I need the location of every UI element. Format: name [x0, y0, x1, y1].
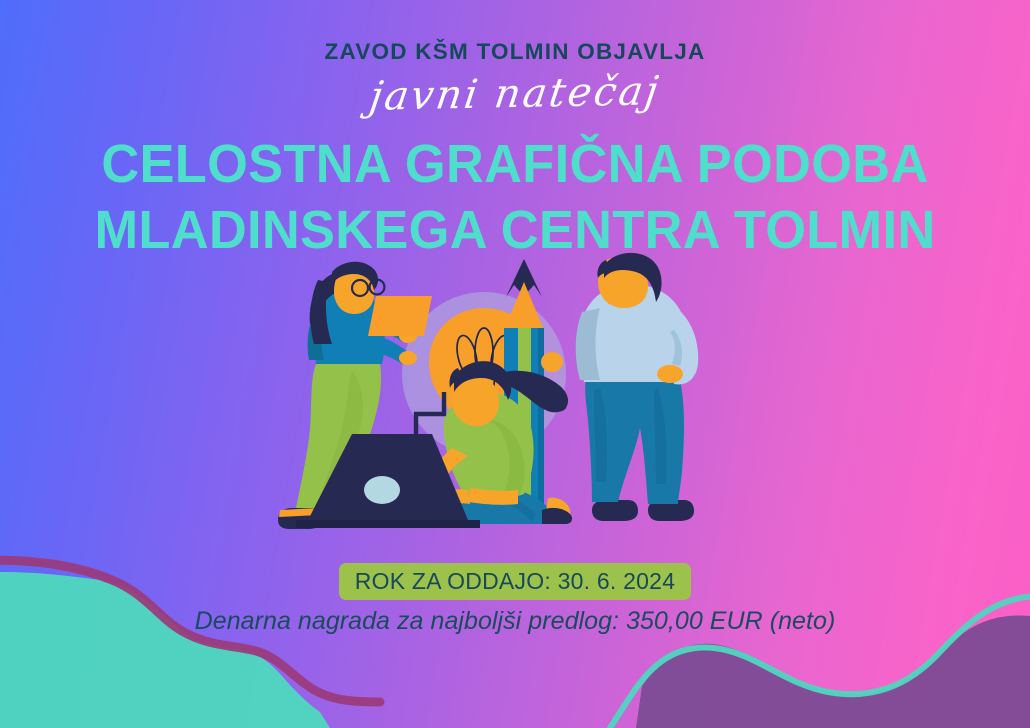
deadline-row: ROK ZA ODDAJO: 30. 6. 2024 — [0, 563, 1030, 600]
headline-block: ZAVOD KŠM TOLMIN OBJAVLJA javni natečaj … — [0, 0, 1030, 264]
prize-text: Denarna nagrada za najboljši predlog: 35… — [0, 608, 1030, 636]
page-title: CELOSTNA GRAFIČNA PODOBA MLADINSKEGA CEN… — [15, 131, 1014, 265]
teamwork-illustration — [256, 252, 772, 552]
eyebrow-text: ZAVOD KŠM TOLMIN OBJAVLJA — [0, 41, 1030, 64]
headline-line-1: CELOSTNA GRAFIČNA PODOBA — [15, 131, 1014, 198]
script-subtitle: javni natečaj — [0, 64, 1030, 124]
tablet-icon — [368, 296, 432, 336]
deadline-badge: ROK ZA ODDAJO: 30. 6. 2024 — [339, 563, 691, 600]
poster-canvas: ZAVOD KŠM TOLMIN OBJAVLJA javni natečaj … — [0, 0, 1030, 728]
